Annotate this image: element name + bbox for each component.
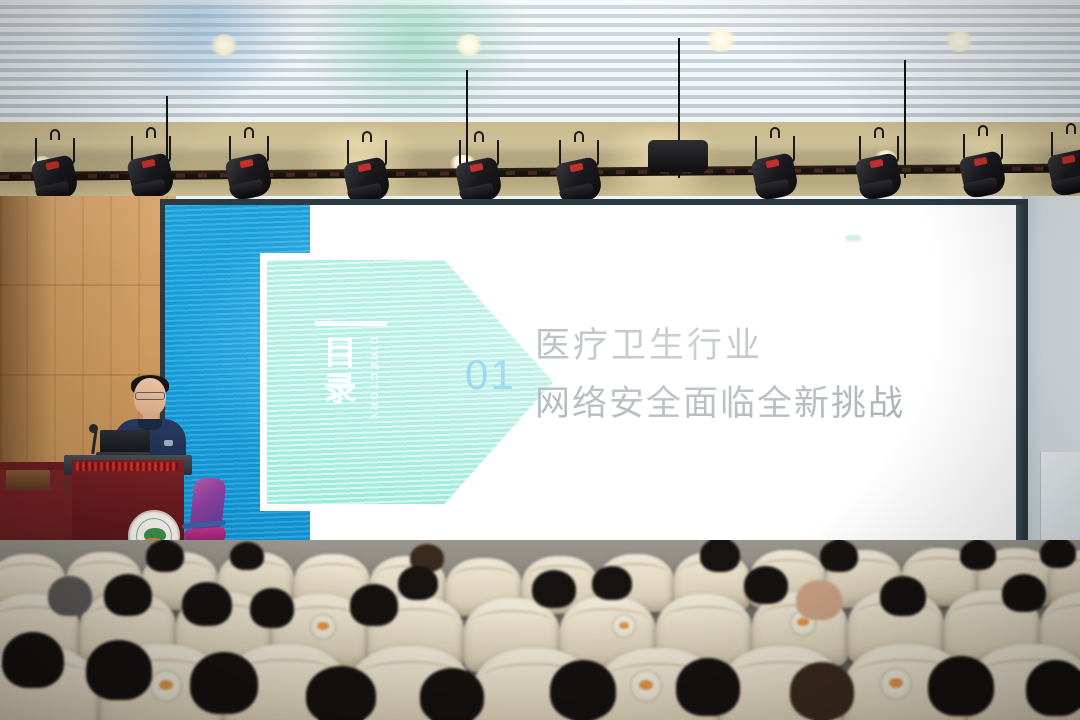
audience-head [1002,574,1046,612]
audience-seating-area [0,540,1080,720]
section-label-cn: 目录 [318,335,362,407]
section-label-en: DIRECTORY [368,337,379,422]
audience-head [550,660,616,720]
light-hanger-rod [904,60,906,178]
audience-head [676,658,740,716]
ceiling-downlight-icon [706,28,736,52]
ceiling-green-tint [300,0,530,128]
audience-head [820,540,858,572]
stage-spotlight-icon [856,136,902,198]
stage-spotlight-icon [1048,132,1080,194]
stage-spotlight-icon [128,136,174,198]
stage-spotlight-icon [32,138,78,200]
ceiling-blue-tint [100,0,300,110]
conference-hall-scene: 目录 DIRECTORY 01 医疗卫生行业 网络安全面临全新挑战 [0,0,1080,720]
audience-head [1026,660,1080,716]
screen-artifact [845,235,861,241]
laptop-icon [100,430,150,454]
stage-spotlight-icon [556,140,602,202]
audience-head [1040,540,1076,568]
audience-head [420,668,484,720]
seat-emblem-icon [880,668,912,700]
ceiling-downlight-icon [945,30,973,52]
audience-head [306,666,376,720]
audience-head [230,542,264,570]
stage-side-object [6,470,50,490]
stage-spotlight-icon [344,140,390,202]
ceiling [0,0,1080,128]
glasses-icon [135,392,165,400]
seat-emblem-icon [150,670,182,702]
shirt-logo [164,440,173,446]
ceiling-downlight-icon [455,34,483,56]
audience-head [190,652,258,714]
audience-head [86,640,152,700]
audience-head [532,570,576,608]
audience-head [744,566,788,604]
audience-head [146,540,184,572]
audience-head [796,580,842,620]
audience-head [48,576,92,616]
stage-spotlight-icon [960,134,1006,196]
slide-title-line-1: 医疗卫生行业 [535,317,1005,375]
stage-spotlight-icon [752,136,798,198]
seat-emblem-icon [630,670,662,702]
audience-head [790,662,854,720]
left-wall-shadow [0,196,54,496]
seat-emblem-icon [310,614,336,640]
audience-head [700,540,740,572]
audience-head [398,566,438,600]
stage-spotlight-icon [226,136,272,198]
slide-title-line-2: 网络安全面临全新挑战 [535,375,1005,433]
slide-number: 01 [465,351,516,399]
seat-emblem-icon [612,614,636,638]
podium-banner-text [76,462,178,471]
stage-light-fixture-box [648,140,708,172]
audience-head [2,632,64,688]
speaker-collar [138,419,162,430]
audience-head [928,656,994,716]
slide-title: 医疗卫生行业 网络安全面临全新挑战 [535,317,1005,433]
ceiling-downlight-icon [210,34,238,56]
microphone-icon [89,424,98,433]
screen-right-edge [1016,205,1025,557]
stage-spotlight-icon [456,140,502,202]
audience-head [350,584,398,626]
section-label-rule [315,321,387,326]
audience-head [182,582,232,626]
audience-head [880,576,926,616]
audience-head [104,574,152,616]
projection-screen: 目录 DIRECTORY 01 医疗卫生行业 网络安全面临全新挑战 [165,205,1022,557]
audience-head [250,588,294,628]
audience-head [960,540,996,570]
audience-head [592,566,632,600]
